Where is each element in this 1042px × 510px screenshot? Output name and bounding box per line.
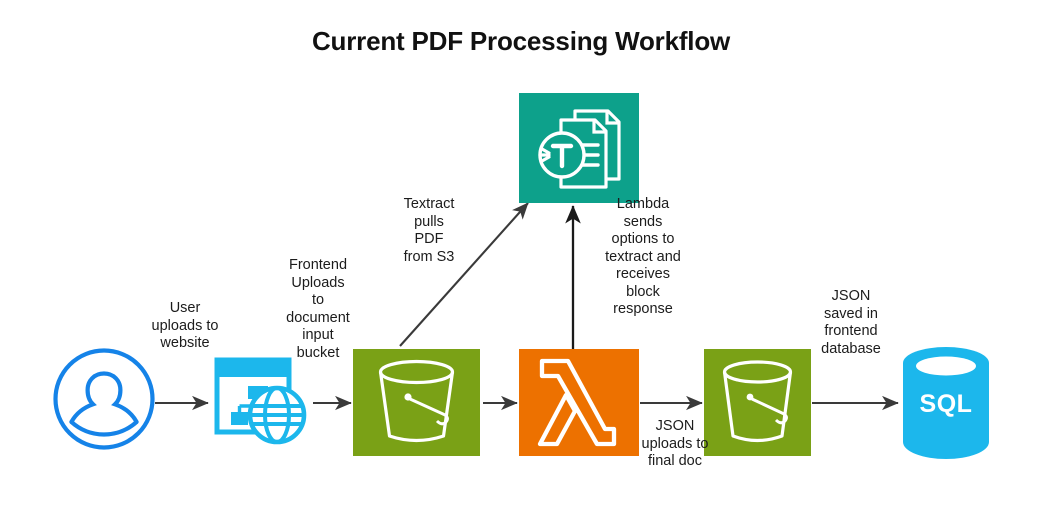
user-circle-icon (52, 347, 156, 451)
website-node[interactable] (213, 355, 311, 450)
textract-node[interactable] (519, 93, 639, 203)
edge-label-lambda-to-final-bucket: JSON uploads to final doc (627, 418, 723, 471)
sql-database-node[interactable]: SQL (900, 346, 992, 459)
user-avatar-node[interactable] (52, 347, 156, 451)
edge-label-bucket-to-textract: Textract pulls PDF from S3 (385, 196, 473, 266)
edge-label-user-to-website: User uploads to website (140, 300, 230, 353)
s3-bucket-icon (353, 349, 480, 456)
database-label: SQL (900, 390, 992, 419)
lambda-icon (519, 349, 639, 456)
lambda-node[interactable] (519, 349, 639, 456)
s3-input-bucket-node[interactable] (353, 349, 480, 456)
edge-label-website-to-bucket: Frontend Uploads to document input bucke… (274, 257, 362, 362)
edge-label-final-bucket-to-database: JSON saved in frontend database (803, 288, 899, 358)
diagram-canvas: Current PDF Processing Workflow (0, 0, 1042, 510)
website-globe-icon (213, 355, 311, 450)
textract-icon (519, 93, 639, 203)
diagram-title: Current PDF Processing Workflow (0, 26, 1042, 57)
edge-label-lambda-textract: Lambda sends options to textract and rec… (597, 196, 689, 319)
